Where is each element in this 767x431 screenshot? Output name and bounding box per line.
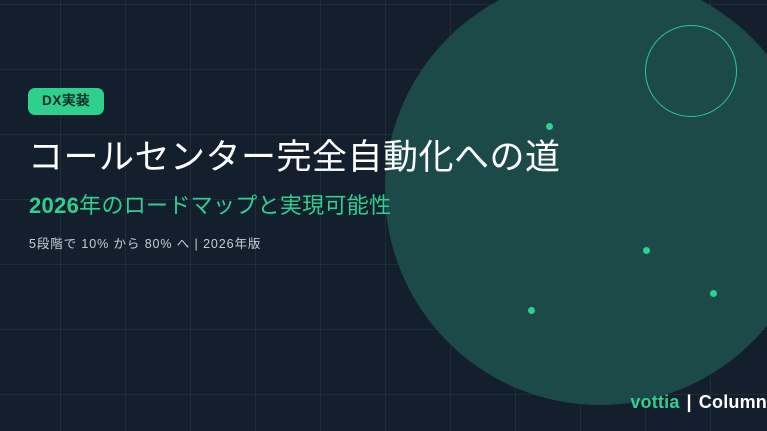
brand-section-label: Column (699, 392, 767, 413)
title-slide: DX実装 コールセンター完全自動化への道 2026年のロードマップと実現可能性 … (0, 0, 767, 431)
brand-name: vottia (630, 392, 679, 413)
brand-separator: | (687, 392, 692, 413)
subtitle-year: 2026 (29, 193, 79, 218)
accent-dot (710, 290, 717, 297)
subtitle-rest: 年のロードマップと実現可能性 (79, 193, 391, 218)
page-title: コールセンター完全自動化への道 (28, 137, 561, 179)
outline-ring-circle (645, 25, 737, 117)
slide-meta-line: 5段階で 10% から 80% へ | 2026年版 (29, 237, 261, 252)
brand-lockup: vottia | Column (630, 392, 767, 413)
slide-content: DX実装 コールセンター完全自動化への道 2026年のロードマップと実現可能性 … (28, 0, 648, 431)
category-badge: DX実装 (28, 88, 104, 115)
page-subtitle: 2026年のロードマップと実現可能性 (29, 193, 391, 219)
